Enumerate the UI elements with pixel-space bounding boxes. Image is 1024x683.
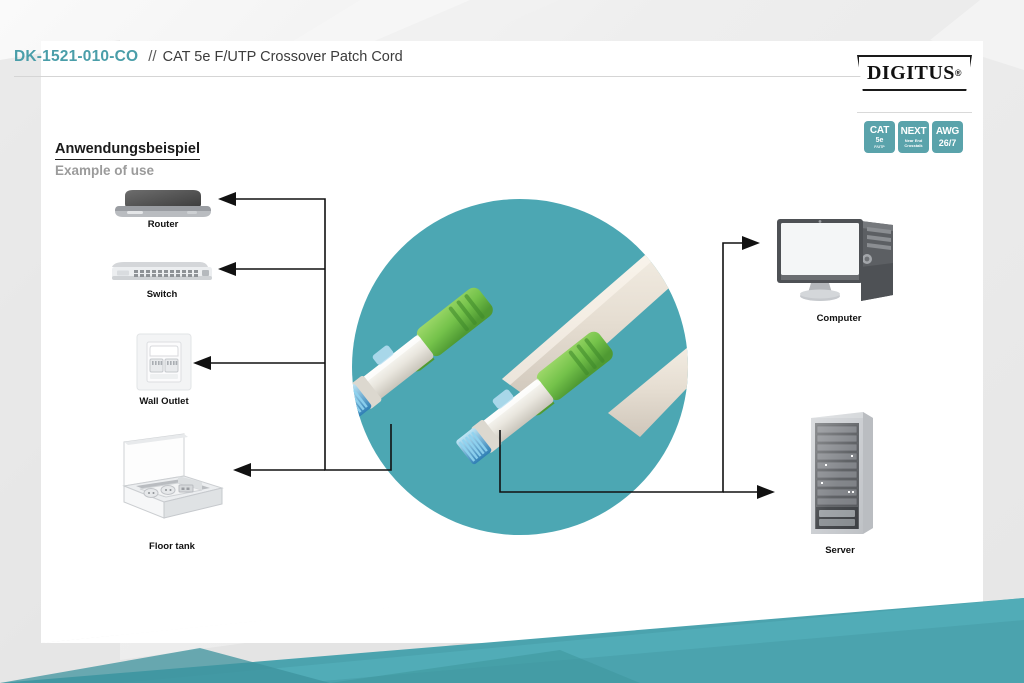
header: DK-1521-010-CO//CAT 5e F/UTP Crossover P… xyxy=(14,48,928,66)
server-label: Server xyxy=(790,545,890,556)
wall-outlet-icon xyxy=(136,333,192,391)
section-title-de: Anwendungsbeispiel xyxy=(55,141,200,160)
computer-label: Computer xyxy=(775,313,903,324)
patch-cord-photo xyxy=(352,199,688,535)
floor-tank-label: Floor tank xyxy=(118,541,226,552)
router-icon xyxy=(113,188,213,220)
wall-outlet-label: Wall Outlet xyxy=(114,396,214,407)
header-divider xyxy=(14,76,928,77)
floor-tank-icon xyxy=(118,432,228,528)
cat-badge: CAT 5e F/UTP xyxy=(864,121,895,153)
next-badge-line1: NEXT xyxy=(901,127,927,137)
section-title-en: Example of use xyxy=(55,163,154,178)
cat-badge-line3: F/UTP xyxy=(874,145,884,149)
product-name: CAT 5e F/UTP Crossover Patch Cord xyxy=(163,49,403,65)
server-icon xyxy=(803,410,877,536)
cat-badge-line2: 5e xyxy=(876,137,884,144)
hero-product-circle xyxy=(352,199,688,535)
next-badge: NEXT Near End Crosstalk xyxy=(898,121,929,153)
product-sku: DK-1521-010-CO xyxy=(14,48,138,66)
next-badge-line2: Near End Crosstalk xyxy=(904,138,922,148)
logo-badge-divider xyxy=(857,112,972,113)
logo-brand-text: DIGITUS xyxy=(867,62,955,85)
slide-canvas: DK-1521-010-CO//CAT 5e F/UTP Crossover P… xyxy=(0,0,1024,683)
spec-badges: CAT 5e F/UTP NEXT Near End Crosstalk AWG… xyxy=(864,121,963,153)
logo-wordmark: DIGITUS® xyxy=(857,55,972,91)
awg-badge-line2: 26/7 xyxy=(939,139,957,148)
header-separator: // xyxy=(148,48,156,65)
cat-badge-line1: CAT xyxy=(870,126,889,136)
digitus-logo: DIGITUS® xyxy=(857,55,972,91)
switch-icon xyxy=(110,258,214,286)
awg-badge-line1: AWG xyxy=(936,127,959,137)
logo-registered-icon: ® xyxy=(955,68,962,78)
switch-label: Switch xyxy=(110,289,214,300)
computer-icon xyxy=(775,217,903,305)
awg-badge: AWG 26/7 xyxy=(932,121,963,153)
router-label: Router xyxy=(113,219,213,230)
